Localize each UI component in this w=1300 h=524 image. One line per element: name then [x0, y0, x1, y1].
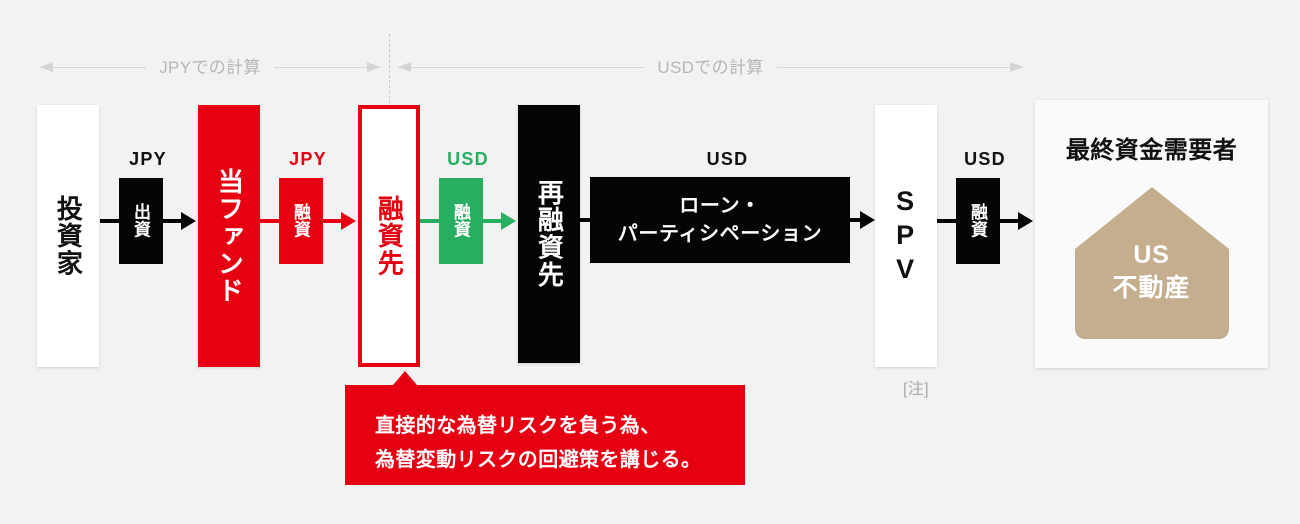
flow-loan-usd-final: USD 融資	[937, 150, 1033, 270]
flow-chip-label: 融資	[451, 203, 470, 238]
arrow-stem	[260, 219, 279, 223]
participation-currency-label: USD	[707, 150, 749, 168]
entity-investor: 投資家	[37, 105, 99, 367]
flow-chip: 融資	[279, 178, 323, 264]
house-label: US 不動産	[1072, 239, 1232, 304]
scale-usd-arrow-left	[398, 67, 644, 68]
house-line1: US	[1072, 239, 1232, 272]
flow-currency-label: JPY	[289, 150, 327, 168]
flow-chip-label: 出資	[131, 203, 150, 238]
spv-line-p: P	[896, 219, 916, 253]
flow-chip: 出資	[119, 178, 163, 264]
entity-refinance-borrower-label: 再融資先	[534, 179, 565, 288]
arrow-stem	[163, 219, 182, 223]
spv-line-v: V	[896, 253, 916, 287]
scale-jpy-arrow-left	[40, 67, 146, 68]
participation-box: ローン・ パーティシペーション	[590, 177, 850, 263]
house-icon: US 不動産	[1072, 183, 1232, 343]
arrow-stem	[850, 218, 860, 222]
entity-borrower: 融資先	[358, 105, 420, 367]
entity-investor-label: 投資家	[53, 195, 84, 277]
scale-usd-arrow-right	[777, 67, 1023, 68]
entity-refinance-borrower: 再融資先	[518, 105, 580, 363]
entity-spv-label: S P V	[896, 185, 916, 286]
flow-loan-participation: USD ローン・ パーティシペーション	[580, 150, 875, 263]
house-line2: 不動産	[1072, 272, 1232, 305]
flow-loan-jpy: JPY 融資	[260, 150, 356, 270]
flow-loan-usd: USD 融資	[420, 150, 516, 270]
scale-jpy: JPYでの計算	[40, 52, 380, 82]
spv-line-s: S	[896, 185, 916, 219]
callout-line1: 直接的な為替リスクを負う為、	[375, 409, 715, 443]
arrow-stem	[580, 218, 590, 222]
final-borrower-card: 最終資金需要者 US 不動産	[1035, 100, 1268, 368]
fx-risk-callout: 直接的な為替リスクを負う為、 為替変動リスクの回避策を講じる。	[345, 385, 745, 485]
final-borrower-title: 最終資金需要者	[1066, 130, 1237, 165]
flow-chip: 融資	[439, 178, 483, 264]
entity-fund: 当ファンド	[198, 105, 260, 367]
diagram-canvas: JPYでの計算 USDでの計算 投資家 JPY 出資 当ファンド JPY	[0, 0, 1300, 524]
scale-usd: USDでの計算	[398, 52, 1023, 82]
arrow-stem	[937, 219, 956, 223]
flow-arrow: 融資	[260, 178, 356, 264]
arrow-head-icon	[860, 211, 875, 229]
scale-usd-label: USDでの計算	[644, 59, 776, 76]
flow-currency-label: USD	[447, 150, 489, 168]
participation-line2: パーティシペーション	[618, 220, 822, 248]
flow-arrow: 融資	[420, 178, 516, 264]
arrow-stem	[323, 219, 342, 223]
callout-line2: 為替変動リスクの回避策を講じる。	[375, 443, 715, 477]
entity-borrower-label: 融資先	[374, 195, 405, 277]
arrow-head-icon	[1018, 212, 1033, 230]
flow-currency-label: JPY	[129, 150, 167, 168]
participation-line1: ローン・	[618, 192, 822, 220]
spv-footnote-marker: [注]	[903, 375, 929, 399]
arrow-stem	[420, 219, 439, 223]
flow-investment-jpy: JPY 出資	[100, 150, 196, 270]
callout-pointer-icon	[393, 371, 417, 385]
flow-currency-label: USD	[964, 150, 1006, 168]
arrow-stem	[1000, 219, 1019, 223]
flow-chip-label: 融資	[968, 203, 987, 238]
arrow-stem	[100, 219, 119, 223]
flow-arrow: 融資	[937, 178, 1033, 264]
entity-spv: S P V	[875, 105, 937, 367]
arrow-stem	[483, 219, 502, 223]
flow-chip: 融資	[956, 178, 1000, 264]
flow-chip-label: 融資	[291, 203, 310, 238]
scale-jpy-label: JPYでの計算	[146, 59, 274, 76]
participation-arrow: ローン・ パーティシペーション	[580, 177, 875, 263]
entity-fund-label: 当ファンド	[214, 168, 245, 305]
arrow-head-icon	[341, 212, 356, 230]
flow-arrow: 出資	[100, 178, 196, 264]
arrow-head-icon	[501, 212, 516, 230]
arrow-head-icon	[181, 212, 196, 230]
scale-jpy-arrow-right	[274, 67, 380, 68]
